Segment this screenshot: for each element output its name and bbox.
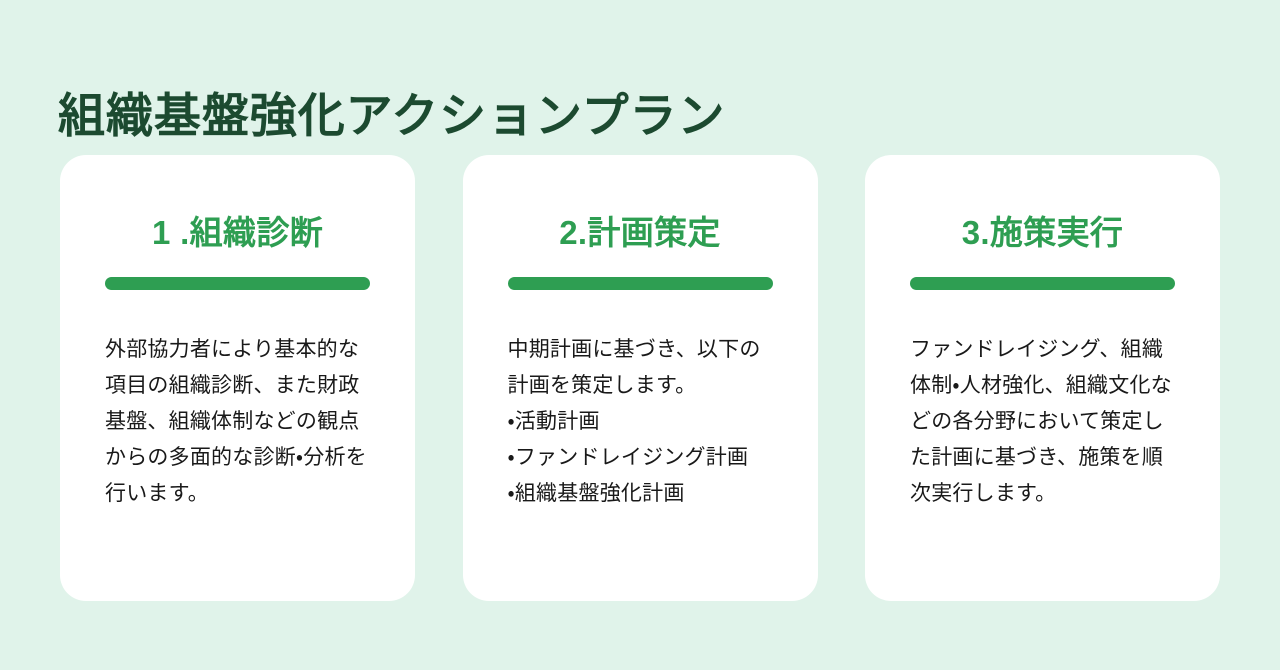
body-paragraph: 外部協力者により基本的な項目の組織診断、また財政基盤、組織体制などの観点からの多… — [105, 332, 370, 512]
body-paragraph: 中期計画に基づき、以下の計画を策定します。 — [508, 332, 773, 404]
bullet-item: ・活動計画 — [508, 404, 773, 440]
step-card-body: 外部協力者により基本的な項目の組織診断、また財政基盤、組織体制などの観点からの多… — [105, 332, 370, 512]
bullet-item: ・ファンドレイジング計画 — [508, 440, 773, 476]
bullet-item: ・組織基盤強化計画 — [508, 476, 773, 512]
step-card-heading: 1 .組織診断 — [152, 213, 323, 253]
step-card-heading: 2.計画策定 — [559, 213, 721, 253]
step-card-body: 中期計画に基づき、以下の計画を策定します。 ・活動計画 ・ファンドレイジング計画… — [508, 332, 773, 512]
heading-underline-bar — [910, 277, 1175, 290]
step-card-body: ファンドレイジング、組織体制・人材強化、組織文化などの各分野において策定した計画… — [910, 332, 1175, 512]
slide-root: 組織基盤強化アクションプラン 1 .組織診断 外部協力者により基本的な項目の組織… — [0, 0, 1280, 670]
step-card-1: 1 .組織診断 外部協力者により基本的な項目の組織診断、また財政基盤、組織体制な… — [60, 155, 415, 601]
heading-underline-bar — [105, 277, 370, 290]
step-card-heading: 3.施策実行 — [962, 213, 1124, 253]
step-card-2: 2.計画策定 中期計画に基づき、以下の計画を策定します。 ・活動計画 ・ファンド… — [463, 155, 818, 601]
body-paragraph: ファンドレイジング、組織体制・人材強化、組織文化などの各分野において策定した計画… — [910, 332, 1175, 512]
card-list: 1 .組織診断 外部協力者により基本的な項目の組織診断、また財政基盤、組織体制な… — [60, 155, 1220, 601]
step-card-3: 3.施策実行 ファンドレイジング、組織体制・人材強化、組織文化などの各分野におい… — [865, 155, 1220, 601]
heading-underline-bar — [508, 277, 773, 290]
page-title: 組織基盤強化アクションプラン — [58, 89, 725, 143]
